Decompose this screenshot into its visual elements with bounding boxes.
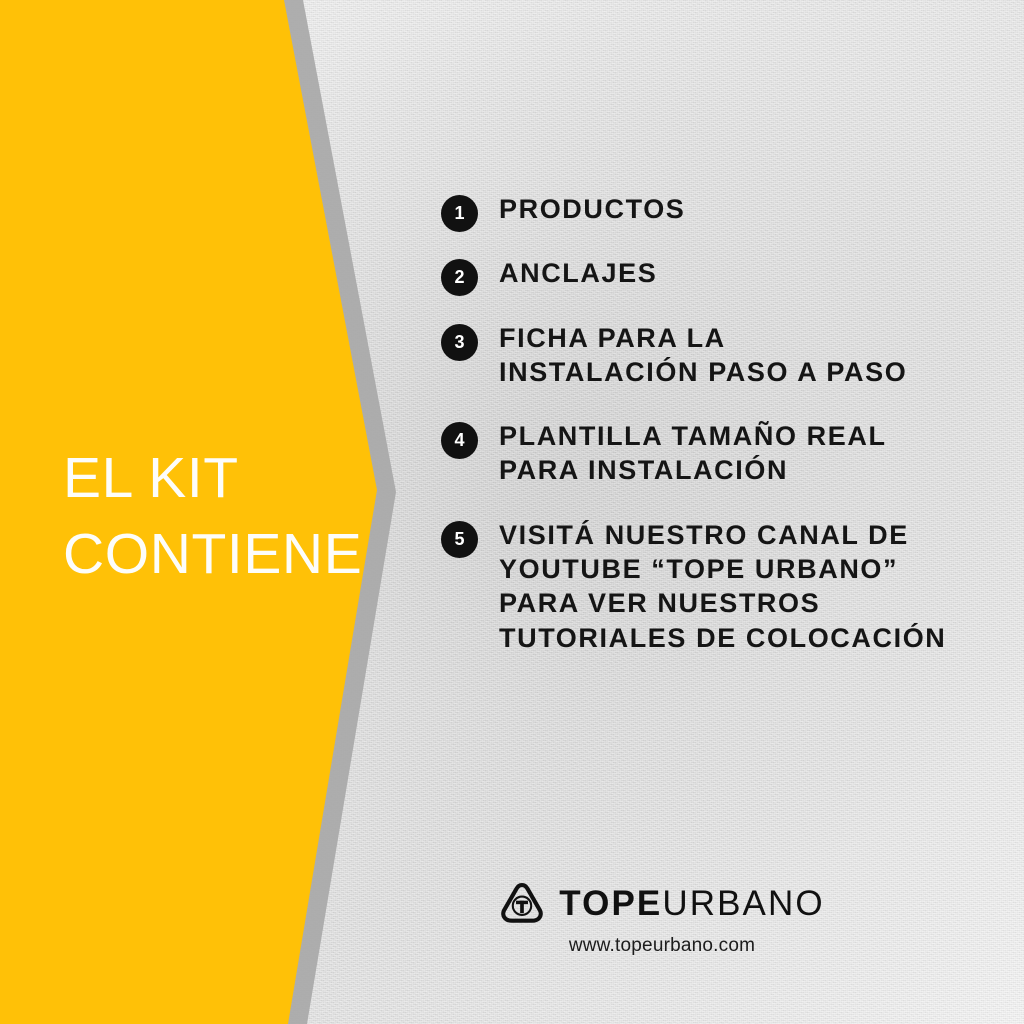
poster-canvas: EL KIT CONTIENE 1 PRODUCTOS 2 ANCLAJES 3… [0,0,1024,1024]
logo-word-bold: TOPE [559,884,662,923]
list-item: 2 ANCLAJES [441,256,1001,290]
list-item-number-badge: 4 [441,422,478,459]
list-item-number-badge: 5 [441,521,478,558]
page-title: EL KIT CONTIENE [63,441,363,593]
brand-logo-block: TOPEURBANO www.topeurbano.com [0,880,1024,957]
logo-wordmark: TOPEURBANO [559,886,824,921]
rounded-triangle-t-icon [499,880,545,926]
list-item: 4 PLANTILLA TAMAÑO REAL PARA INSTALACIÓN [441,419,1001,488]
list-item-label: VISITÁ NUESTRO CANAL DE YOUTUBE “TOPE UR… [499,518,1001,655]
logo-row: TOPEURBANO [199,880,824,926]
list-item-number-badge: 3 [441,324,478,361]
list-item: 3 FICHA PARA LA INSTALACIÓN PASO A PASO [441,321,1001,390]
kit-contents-list: 1 PRODUCTOS 2 ANCLAJES 3 FICHA PARA LA I… [441,192,1001,685]
list-item-label: ANCLAJES [499,256,1001,290]
list-item: 5 VISITÁ NUESTRO CANAL DE YOUTUBE “TOPE … [441,518,1001,655]
logo-word-light: URBANO [662,884,824,923]
list-item-number-badge: 1 [441,195,478,232]
website-url: www.topeurbano.com [269,935,755,957]
list-item-label: PRODUCTOS [499,192,1001,226]
list-item: 1 PRODUCTOS [441,192,1001,226]
list-item-label: FICHA PARA LA INSTALACIÓN PASO A PASO [499,321,1001,390]
list-item-number-badge: 2 [441,259,478,296]
list-item-label: PLANTILLA TAMAÑO REAL PARA INSTALACIÓN [499,419,1001,488]
